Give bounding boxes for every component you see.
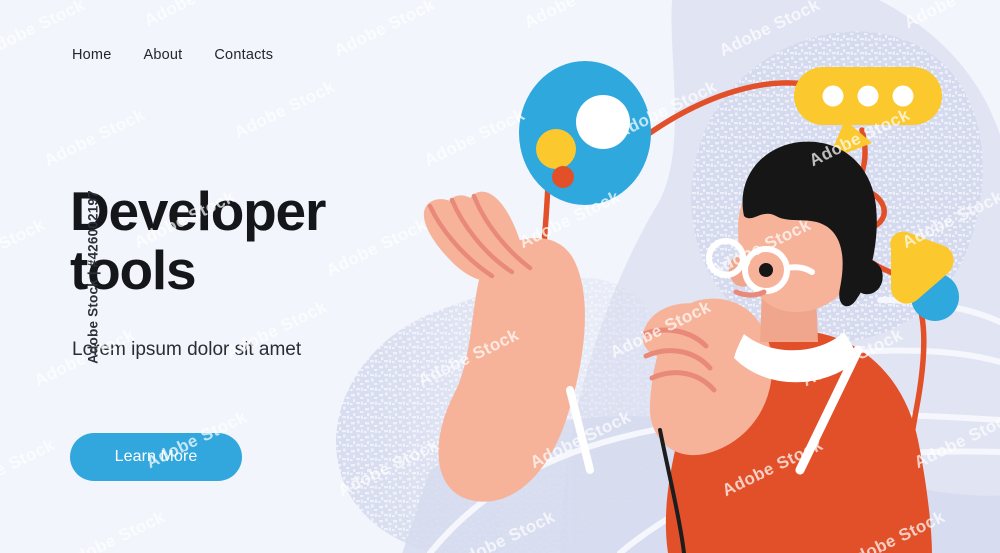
yellow-dot (536, 129, 576, 169)
white-dot (576, 95, 630, 149)
eye (759, 263, 773, 277)
page-subtitle: Lorem ipsum dolor sit amet (72, 336, 372, 364)
page-title: Developer tools (70, 182, 450, 300)
watermark-credit: Adobe Stock | #426002197 (85, 190, 100, 364)
learn-more-button[interactable]: Learn More (70, 433, 242, 481)
chat-dot-3 (893, 86, 914, 107)
nav-item-about[interactable]: About (141, 45, 184, 65)
orange-dot (552, 166, 574, 188)
blue-circle-badge (519, 61, 651, 205)
nav-item-home[interactable]: Home (70, 45, 113, 65)
chat-dot-2 (858, 86, 879, 107)
chat-dot-1 (823, 86, 844, 107)
illustration-landing-page: Home About Contacts Developer tools Lore… (0, 0, 1000, 553)
nav-item-contacts[interactable]: Contacts (212, 45, 275, 65)
main-nav: Home About Contacts (70, 45, 275, 65)
